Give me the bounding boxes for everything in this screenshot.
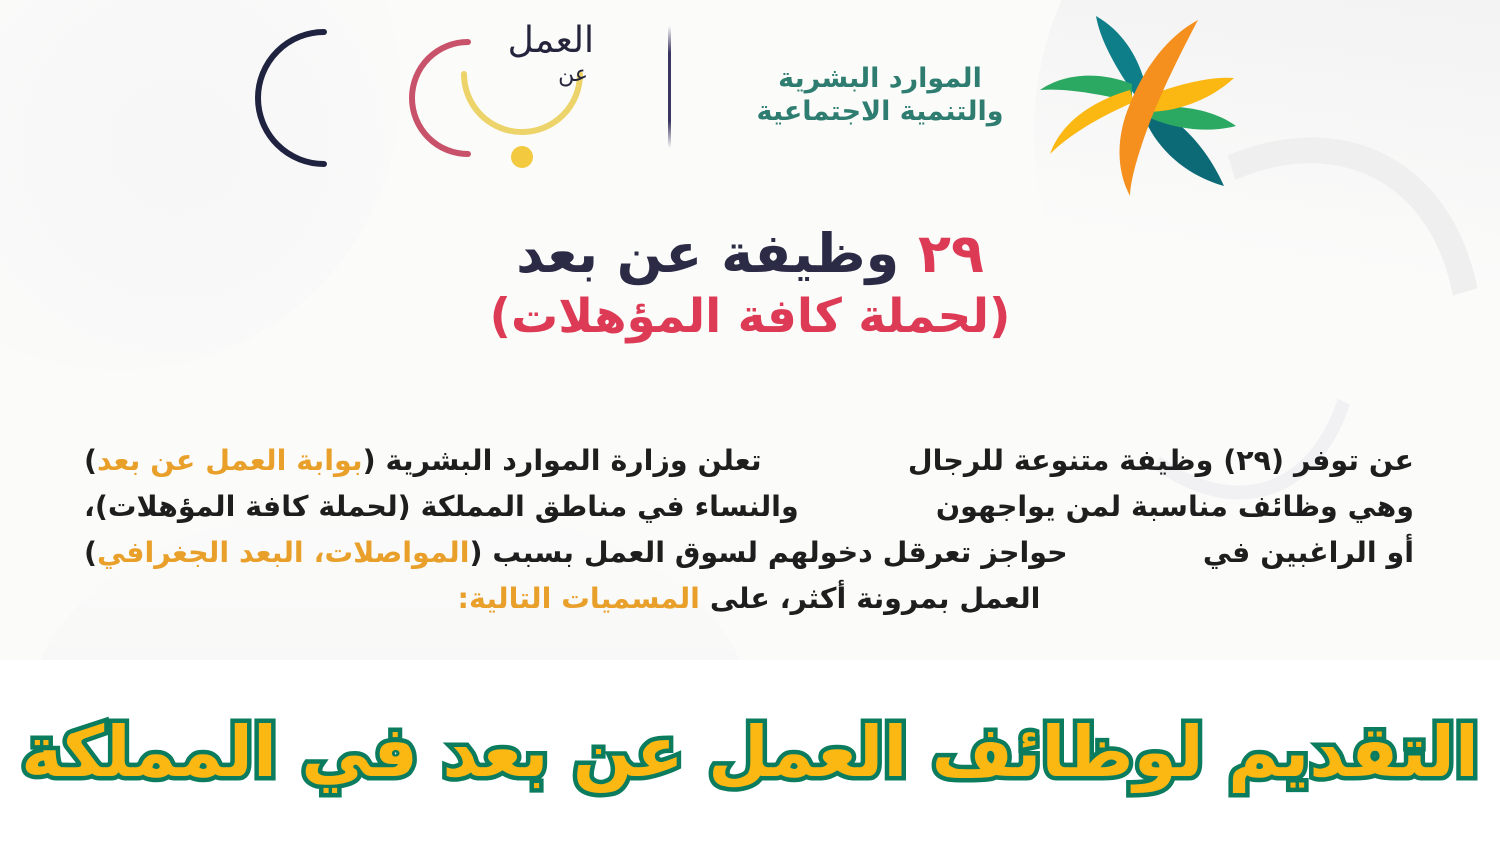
body-line-4-highlight: المسميات التالية: [458, 582, 700, 615]
body-line-3: أو الراغبين في حواجز تعرقل دخولهم لسوق ا… [84, 530, 1414, 576]
remote-logo-word-top: العمل [508, 20, 594, 61]
headline-line1: ٢٩ وظيفة عن بعد [0, 222, 1500, 286]
body-line-4: العمل بمرونة أكثر، على المسميات التالية: [84, 576, 1414, 622]
body-line-3-right: حواجز تعرقل دخولهم لسوق العمل بسبب ( [469, 536, 1067, 569]
ministry-name-line1: الموارد البشرية [720, 62, 1040, 95]
headline-block: ٢٩ وظيفة عن بعد (لحملة كافة المؤهلات) [0, 222, 1500, 346]
body-line-2-right: والنساء في مناطق المملكة (لحملة كافة الم… [84, 484, 799, 530]
body-paragraph: عن توفر (٢٩) وظيفة متنوعة للرجال تعلن وز… [84, 438, 1414, 623]
remote-work-logo: العمل عن [252, 14, 602, 182]
body-line-1-right: تعلن وزارة الموارد البشرية ( [363, 444, 762, 477]
announcement-card: العمل عن الموارد البشرية والتنمية الاجتم… [0, 0, 1500, 660]
body-line-4-prefix: العمل بمرونة أكثر، على [700, 582, 1041, 615]
body-line-3-left: أو الراغبين في [1203, 530, 1414, 576]
logo-header: العمل عن الموارد البشرية والتنمية الاجتم… [0, 0, 1500, 200]
announcement-page: العمل عن الموارد البشرية والتنمية الاجتم… [0, 0, 1500, 843]
ministry-name-line2: والتنمية الاجتماعية [720, 95, 1040, 128]
body-line-1: عن توفر (٢٩) وظيفة متنوعة للرجال تعلن وز… [84, 438, 1414, 484]
header-divider [668, 26, 671, 148]
headline-job-count: ٢٩ [918, 222, 984, 285]
banner-headline: التقديم لوظائف العمل عن بعد في المملكة [21, 717, 1479, 787]
body-line-1-close: ) [84, 444, 97, 477]
headline-line1-text: وظيفة عن بعد [516, 222, 899, 285]
body-line-1-right-group: تعلن وزارة الموارد البشرية (بوابة العمل … [84, 438, 762, 484]
body-line-2-left: وهي وظائف مناسبة لمن يواجهون [936, 484, 1414, 530]
body-line-1-highlight: بوابة العمل عن بعد [97, 444, 363, 477]
ministry-logo: الموارد البشرية والتنمية الاجتماعية [720, 18, 1230, 188]
ministry-star-icon [1038, 10, 1238, 200]
bottom-banner: التقديم لوظائف العمل عن بعد في المملكة [0, 660, 1500, 843]
remote-logo-word-small: عن [558, 62, 588, 87]
gold-dot-icon [511, 146, 533, 168]
body-line-2: وهي وظائف مناسبة لمن يواجهون والنساء في … [84, 484, 1414, 530]
body-line-3-right-group: حواجز تعرقل دخولهم لسوق العمل بسبب (المو… [84, 530, 1068, 576]
body-line-1-left: عن توفر (٢٩) وظيفة متنوعة للرجال [908, 438, 1414, 484]
headline-line2: (لحملة كافة المؤهلات) [0, 288, 1500, 346]
body-line-3-close: ) [84, 536, 97, 569]
body-line-3-highlight: المواصلات، البعد الجغرافي [97, 536, 469, 569]
crescent-icon [258, 32, 324, 164]
ministry-logo-text: الموارد البشرية والتنمية الاجتماعية [720, 62, 1040, 129]
